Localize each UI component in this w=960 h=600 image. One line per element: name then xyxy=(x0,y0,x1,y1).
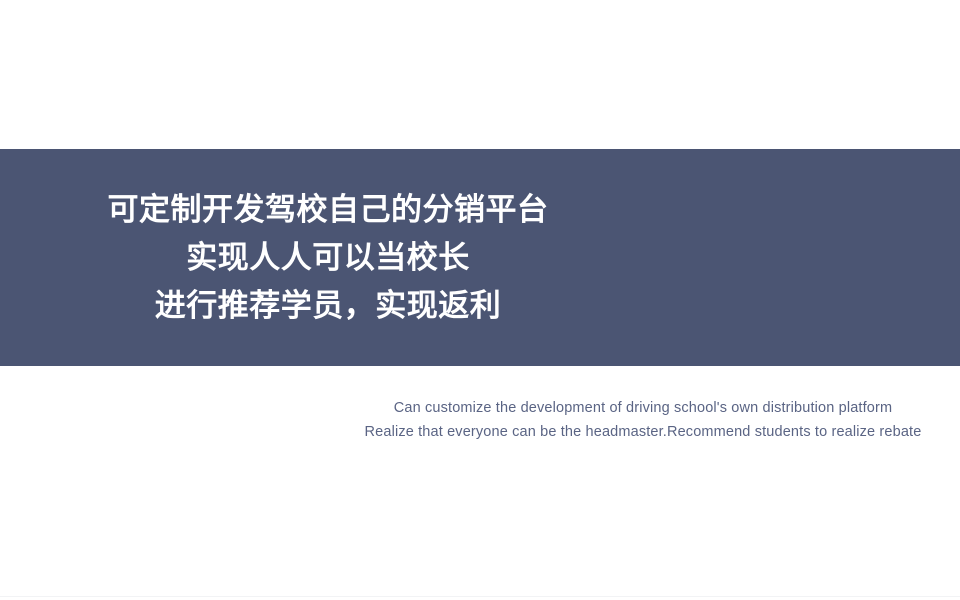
bottom-whitespace xyxy=(0,460,960,596)
headline-banner: 可定制开发驾校自己的分销平台 实现人人可以当校长 进行推荐学员，实现返利 xyxy=(0,149,960,366)
headline-line-3: 进行推荐学员，实现返利 xyxy=(0,282,808,330)
promo-page: 可定制开发驾校自己的分销平台 实现人人可以当校长 进行推荐学员，实现返利 Can… xyxy=(0,0,960,600)
subcopy-inner: Can customize the development of driving… xyxy=(365,396,922,444)
subcopy-block: Can customize the development of driving… xyxy=(0,396,960,444)
headline-stack: 可定制开发驾校自己的分销平台 实现人人可以当校长 进行推荐学员，实现返利 xyxy=(0,186,808,330)
subcopy-line-1: Can customize the development of driving… xyxy=(365,396,922,420)
headline-line-1: 可定制开发驾校自己的分销平台 xyxy=(0,186,808,234)
top-whitespace xyxy=(0,0,960,149)
headline-line-2: 实现人人可以当校长 xyxy=(0,234,808,282)
subcopy-line-2: Realize that everyone can be the headmas… xyxy=(365,420,922,444)
foot-divider xyxy=(0,596,960,597)
